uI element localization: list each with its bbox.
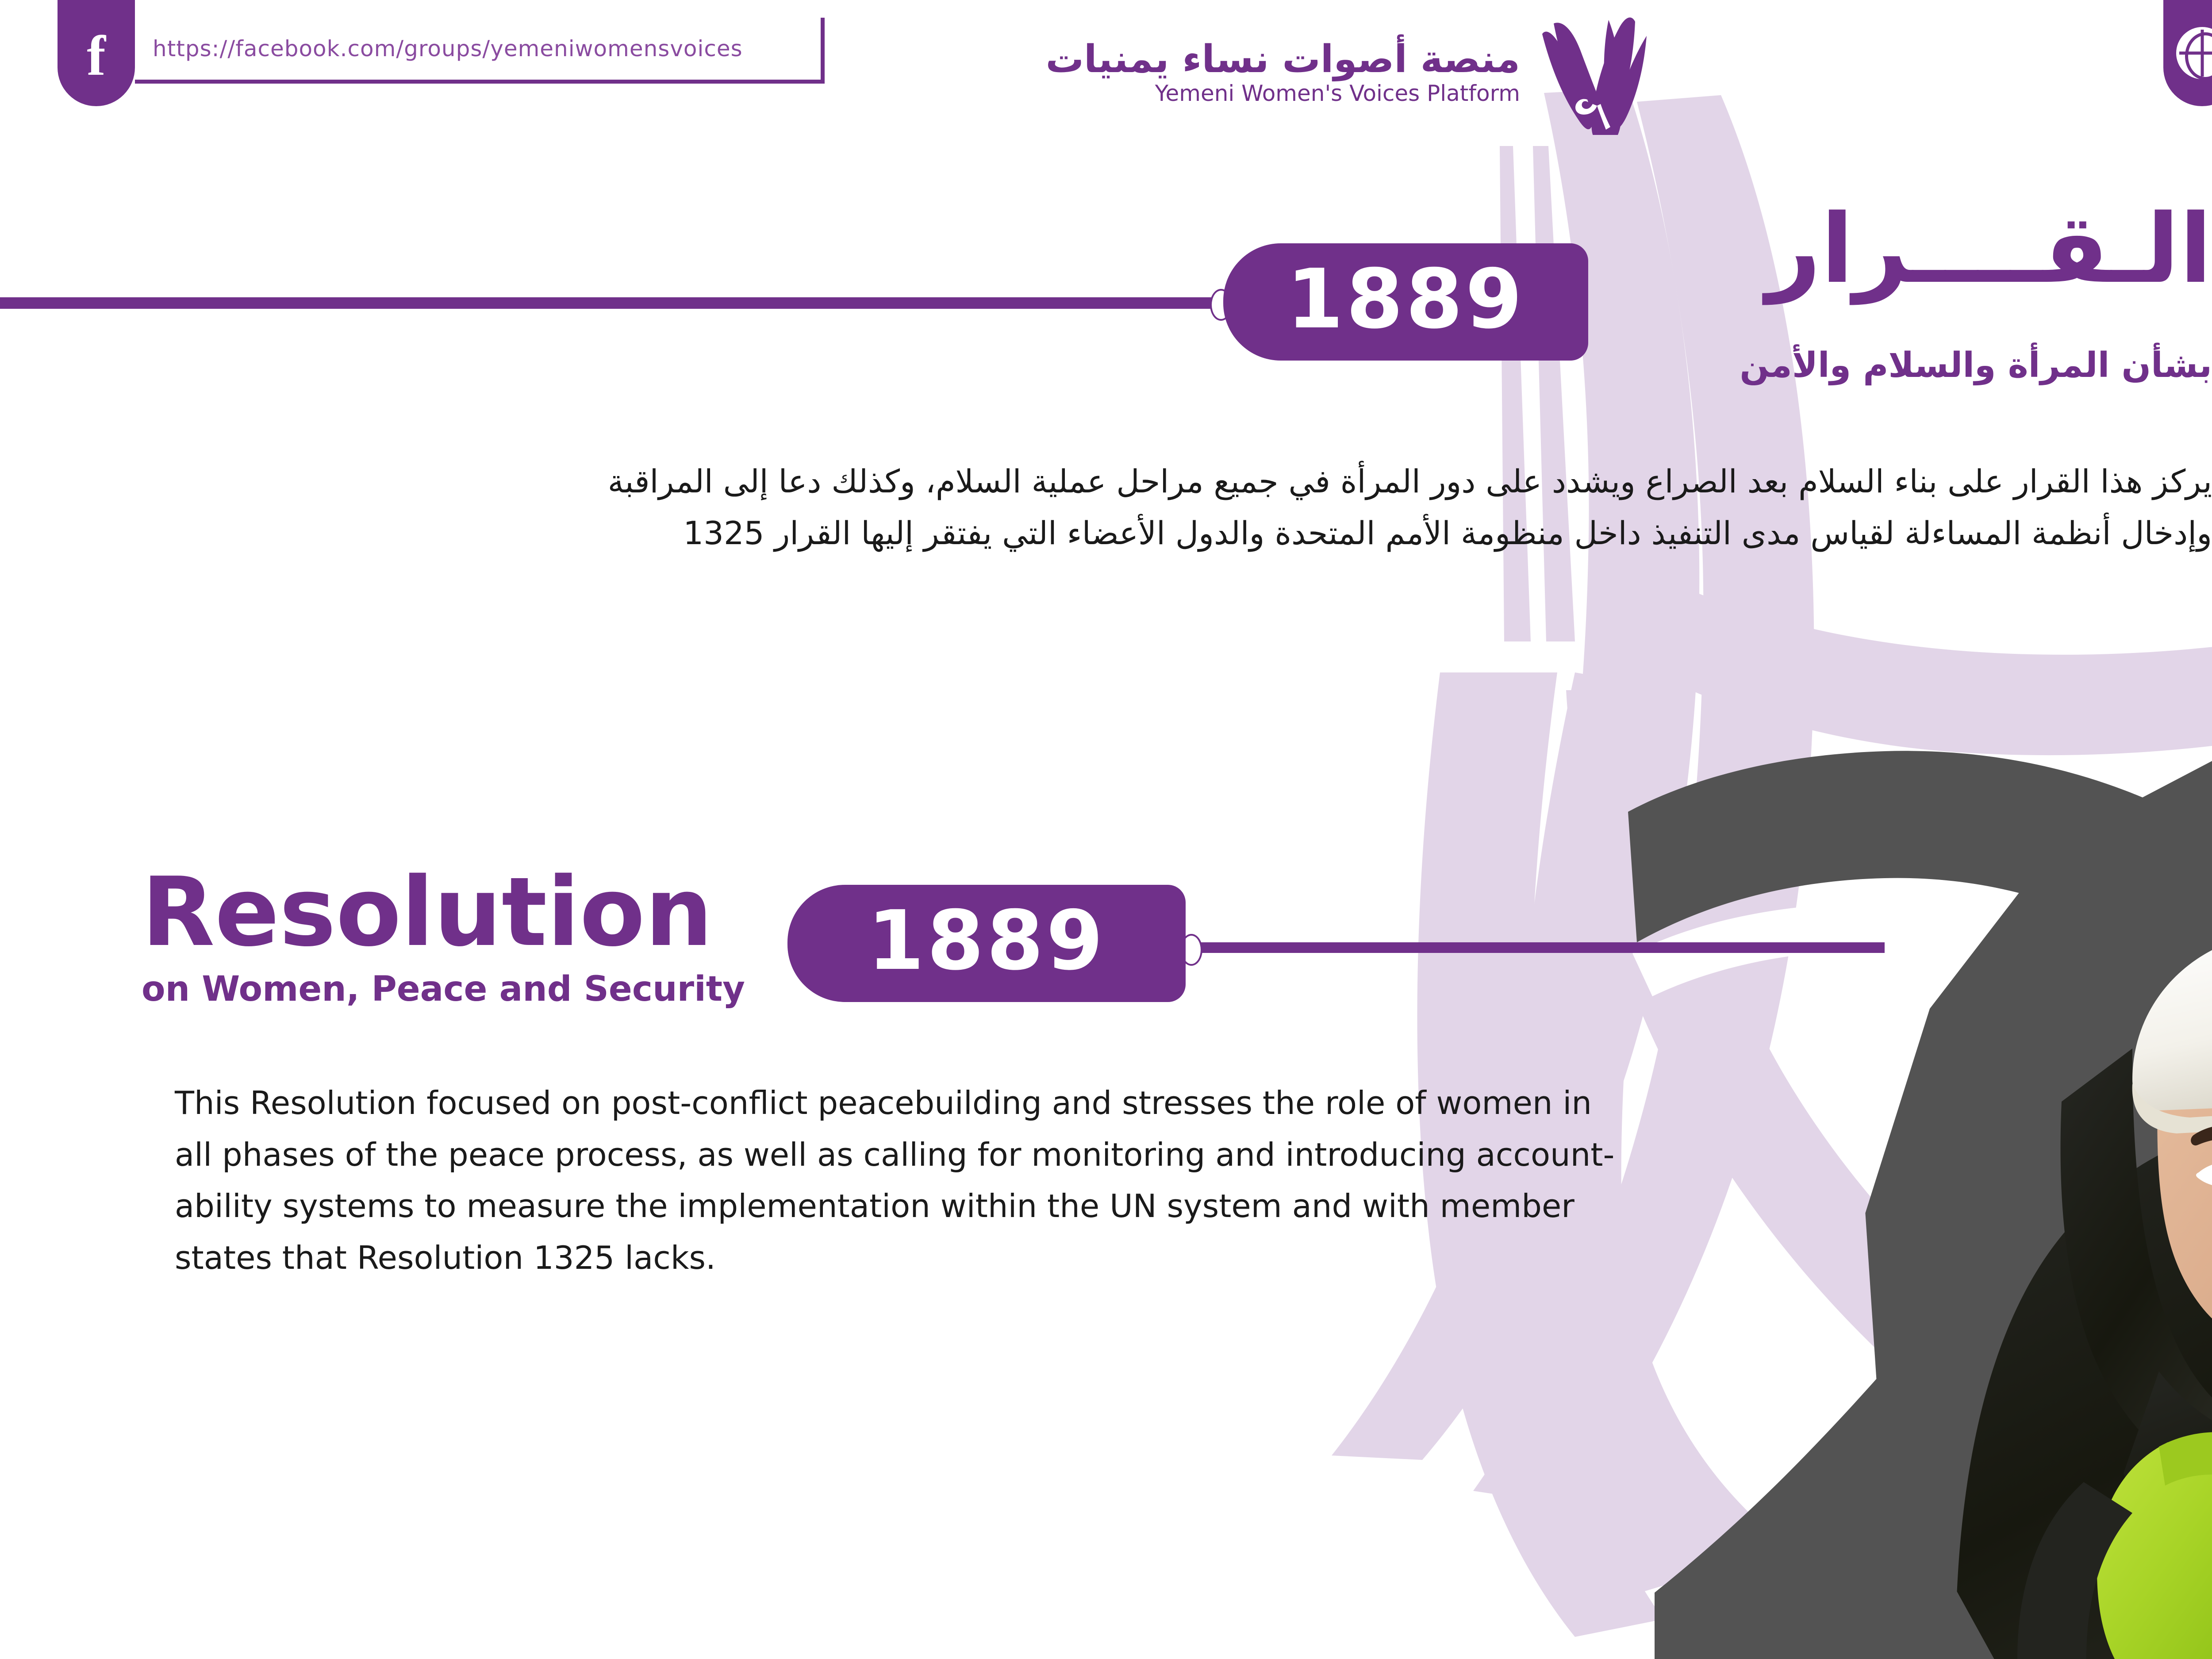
logo-arabic-name: منصة أصوات نساء يمنيات xyxy=(1046,39,1520,79)
bottom-connector-rail xyxy=(1194,942,1885,953)
english-body-line: states that Resolution 1325 lacks. xyxy=(175,1232,1652,1284)
english-body-text: This Resolution focused on post-conflict… xyxy=(175,1077,1652,1284)
english-title: Resolution xyxy=(142,867,713,957)
resolution-1889-poster: f https://facebook.com/groups/yemeniwome… xyxy=(0,0,2212,1659)
english-body-line: all phases of the peace process, as well… xyxy=(175,1129,1652,1181)
arabic-title: الـقــــرار xyxy=(1327,201,2212,296)
platform-logo[interactable]: منصة أصوات نساء يمنيات Yemeni Women's Vo… xyxy=(1071,9,1655,137)
globe-inner-ring xyxy=(2185,32,2212,80)
logo-english-name: Yemeni Women's Voices Platform xyxy=(1155,81,1520,107)
facebook-url-frame[interactable]: https://facebook.com/groups/yemeniwomens… xyxy=(135,18,825,84)
english-body-line: This Resolution focused on post-conflict… xyxy=(175,1077,1652,1129)
logo-text-group: منصة أصوات نساء يمنيات Yemeni Women's Vo… xyxy=(1046,39,1520,107)
top-connector-rail xyxy=(0,297,1221,309)
facebook-icon: f xyxy=(87,27,106,84)
facebook-badge[interactable]: f xyxy=(58,0,135,106)
dove-logo-icon xyxy=(1531,11,1655,135)
english-number-badge: 1889 xyxy=(787,885,1186,1002)
arabic-subtitle: بشأن المرأة والسلام والأمن xyxy=(1327,345,2212,387)
arabic-body-text: يركز هذا القرار على بناء السلام بعد الصر… xyxy=(531,456,2212,559)
facebook-url-text: https://facebook.com/groups/yemeniwomens… xyxy=(153,36,743,61)
english-number-badge-text: 1889 xyxy=(868,900,1106,982)
english-body-line: ability systems to measure the implement… xyxy=(175,1180,1652,1232)
english-subtitle: on Women, Peace and Security xyxy=(142,969,745,1010)
website-badge[interactable] xyxy=(2163,0,2212,106)
woman-engineer-photo xyxy=(1849,730,2212,1659)
globe-icon xyxy=(2176,27,2212,79)
